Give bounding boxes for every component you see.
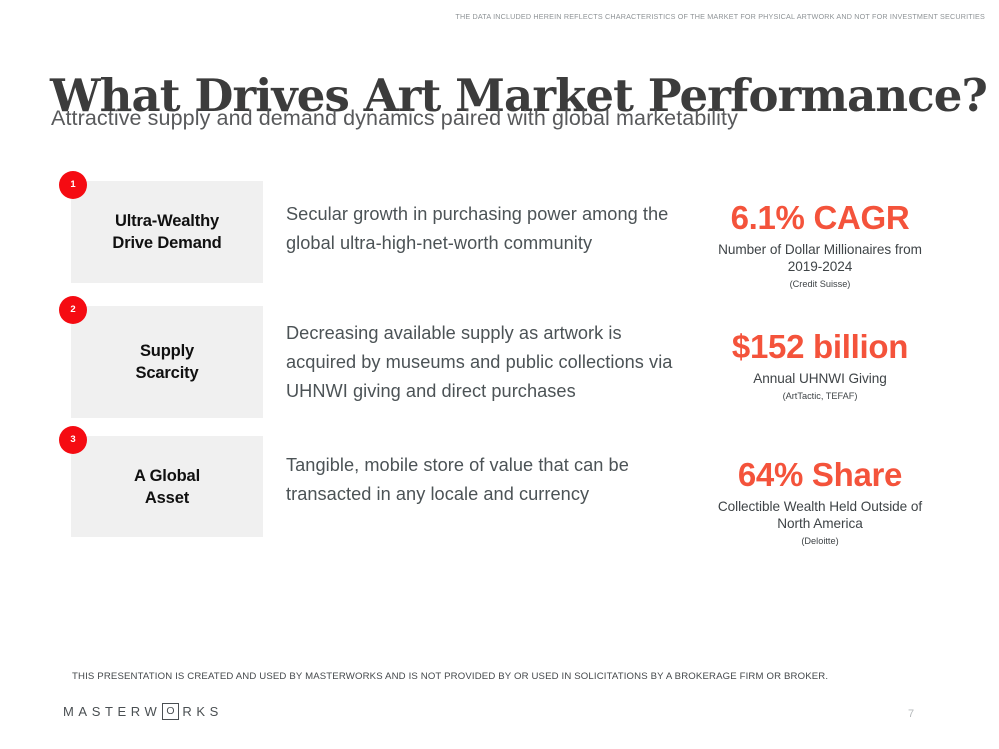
pillar-description: Decreasing available supply as artwork i…	[286, 319, 686, 406]
footer-divider	[50, 652, 949, 653]
page-number: 7	[908, 708, 914, 720]
stat-caption: Annual UHNWI Giving	[700, 370, 940, 387]
page-subtitle: Attractive supply and demand dynamics pa…	[51, 104, 738, 132]
stat-source: (Credit Suisse)	[700, 278, 940, 290]
logo-boxed-o-icon: O	[162, 703, 179, 720]
pillar-description: Secular growth in purchasing power among…	[286, 200, 686, 258]
footer-disclaimer: THIS PRESENTATION IS CREATED AND USED BY…	[72, 671, 828, 682]
stat-headline: 64% Share	[700, 456, 940, 494]
stat-block-3: 64% Share Collectible Wealth Held Outsid…	[700, 456, 940, 547]
stat-source: (Deloitte)	[700, 535, 940, 547]
pillar-row: 1 Ultra-WealthyDrive Demand Secular grow…	[0, 181, 999, 283]
step-badge-1: 1	[59, 171, 87, 199]
pillar-label: SupplyScarcity	[135, 340, 198, 384]
logo-text-last: RKS	[182, 704, 223, 719]
step-badge-3: 3	[59, 426, 87, 454]
stat-block-2: $152 billion Annual UHNWI Giving (ArtTac…	[700, 328, 940, 402]
pillar-label: A GlobalAsset	[134, 465, 200, 509]
masterworks-logo: MASTERWORKS	[63, 703, 223, 720]
stat-caption: Number of Dollar Millionaires from 2019-…	[700, 241, 940, 275]
pillar-card-3: A GlobalAsset	[71, 436, 263, 537]
logo-text-first: MASTERW	[63, 704, 161, 719]
pillar-row: 2 SupplyScarcity Decreasing available su…	[0, 306, 999, 418]
pillar-label: Ultra-WealthyDrive Demand	[112, 210, 221, 254]
step-badge-2: 2	[59, 296, 87, 324]
header-disclaimer: THE DATA INCLUDED HEREIN REFLECTS CHARAC…	[455, 12, 985, 21]
pillar-card-2: SupplyScarcity	[71, 306, 263, 418]
stat-caption: Collectible Wealth Held Outside of North…	[700, 498, 940, 532]
stat-source: (ArtTactic, TEFAF)	[700, 390, 940, 402]
pillar-description: Tangible, mobile store of value that can…	[286, 451, 686, 509]
pillar-card-1: Ultra-WealthyDrive Demand	[71, 181, 263, 283]
stat-headline: 6.1% CAGR	[700, 199, 940, 237]
stat-block-1: 6.1% CAGR Number of Dollar Millionaires …	[700, 199, 940, 290]
stat-headline: $152 billion	[700, 328, 940, 366]
presentation-slide: THE DATA INCLUDED HEREIN REFLECTS CHARAC…	[0, 0, 999, 749]
pillar-row: 3 A GlobalAsset Tangible, mobile store o…	[0, 436, 999, 537]
